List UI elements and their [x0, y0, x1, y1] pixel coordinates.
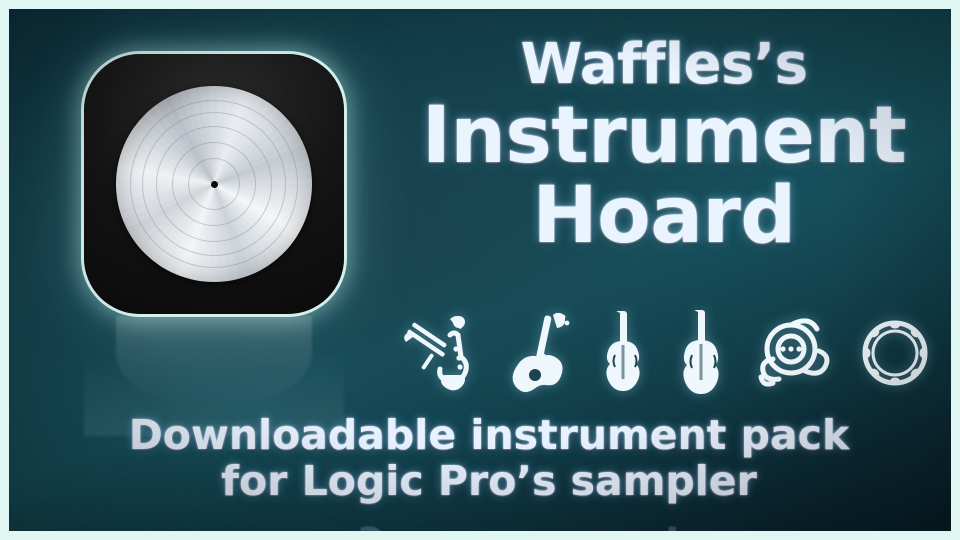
tambourine-icon — [855, 313, 935, 397]
app-icon-tile — [84, 54, 344, 314]
bass-guitar-icon — [501, 313, 575, 397]
subtitle-reflection: for Logic Pro’s sampler — [29, 525, 949, 531]
card-background: Waffles’s Instrument Hoard — [9, 9, 951, 531]
subtitle-reflection-line-2: for Logic Pro’s sampler — [29, 525, 949, 531]
instrument-icon-row — [401, 309, 935, 401]
viola-icon — [675, 310, 731, 400]
trombone-icon — [401, 313, 479, 397]
title-line-2: Instrument — [379, 97, 949, 175]
violin-icon — [597, 311, 653, 399]
page-title: Waffles’s Instrument Hoard — [379, 37, 949, 255]
subtitle-line-1: Downloadable instrument pack — [29, 413, 949, 459]
title-line-3: Hoard — [379, 177, 949, 255]
title-card: Waffles’s Instrument Hoard — [0, 0, 960, 540]
app-icon — [84, 54, 344, 314]
vinyl-center-hole — [211, 181, 218, 188]
subtitle-line-2: for Logic Pro’s sampler — [29, 459, 949, 505]
subtitle: Downloadable instrument pack for Logic P… — [29, 413, 949, 505]
french-horn-icon — [753, 313, 833, 397]
title-line-1: Waffles’s — [379, 37, 949, 93]
vinyl-record-icon — [116, 86, 312, 282]
